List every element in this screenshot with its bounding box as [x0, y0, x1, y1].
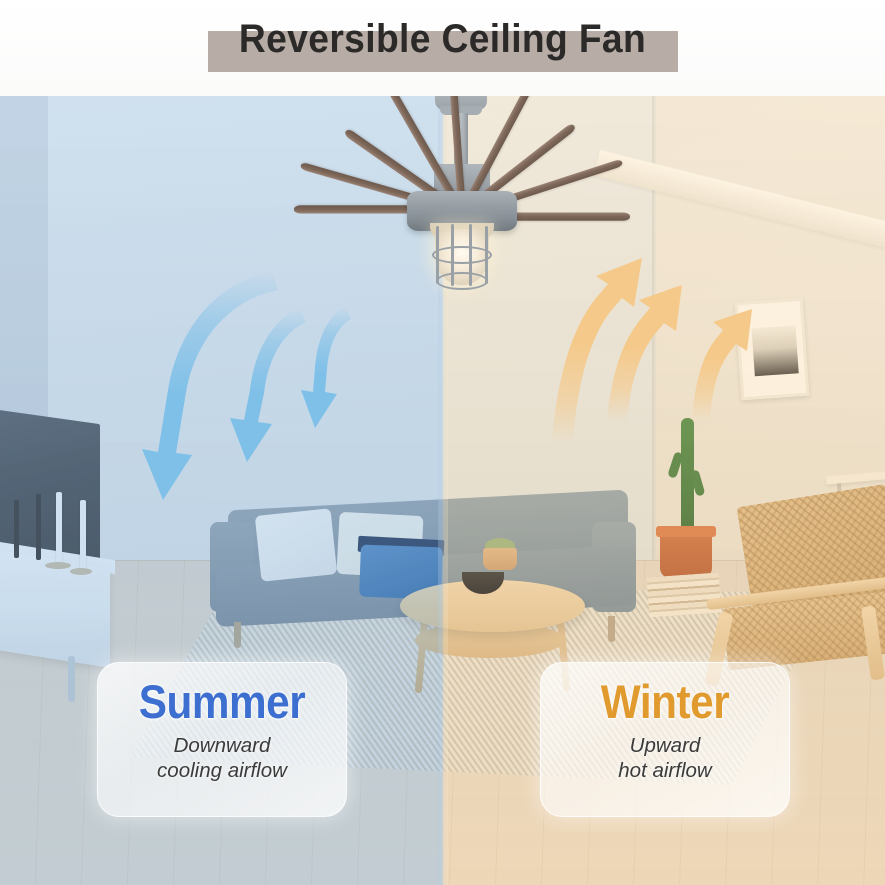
summer-line-1: Downward	[98, 733, 346, 758]
reversible-ceiling-fan	[268, 86, 628, 286]
summer-description: Downward cooling airflow	[98, 733, 346, 783]
small-pot	[483, 548, 517, 570]
sofa-leg	[234, 622, 241, 648]
pot-rim	[656, 526, 716, 537]
page-title: Reversible Ceiling Fan	[31, 17, 854, 62]
summer-season-title: Summer	[110, 677, 333, 727]
winter-line-2: hot airflow	[541, 758, 789, 783]
winter-info-panel[interactable]: Winter Upward hot airflow	[540, 662, 790, 817]
summer-line-2: cooling airflow	[98, 758, 346, 783]
light-cage-ring	[432, 246, 492, 264]
decor-stick	[36, 494, 41, 560]
candlestick	[80, 500, 86, 568]
summer-info-panel[interactable]: Summer Downward cooling airflow	[97, 662, 347, 817]
decor-stick	[14, 500, 19, 558]
candle-base	[45, 562, 71, 569]
winter-description: Upward hot airflow	[541, 733, 789, 783]
sofa-leg	[608, 616, 615, 642]
product-infographic: Summer Downward cooling airflow Winter U…	[0, 0, 885, 885]
winter-season-title: Winter	[553, 677, 776, 727]
light-cage-ring	[436, 272, 488, 290]
pillow-white	[255, 508, 337, 582]
terracotta-pot	[660, 530, 712, 578]
picture-art	[752, 325, 799, 376]
console-leg	[68, 656, 75, 702]
candlestick	[56, 492, 62, 566]
winter-line-1: Upward	[541, 733, 789, 758]
candle-base	[70, 568, 92, 575]
book-stack	[647, 573, 722, 618]
title-band: Reversible Ceiling Fan	[0, 0, 885, 96]
framed-picture	[735, 298, 810, 401]
